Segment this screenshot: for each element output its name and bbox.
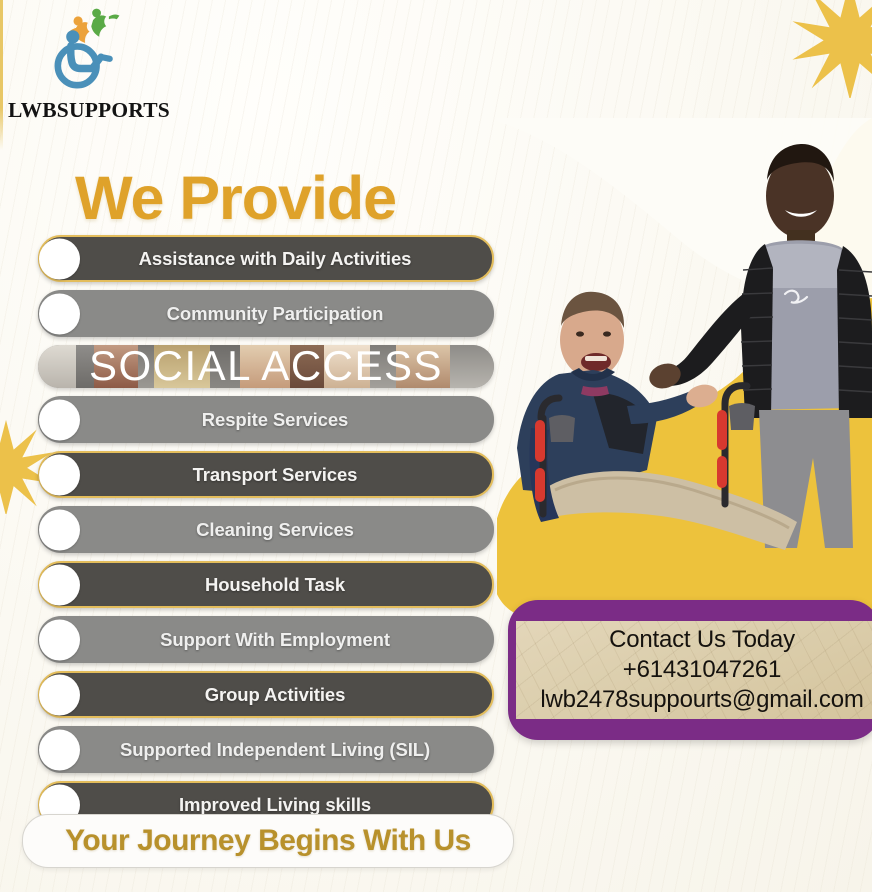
bullet-icon	[39, 619, 80, 660]
page-title: We Provide	[75, 163, 396, 233]
hero-photo	[497, 118, 872, 618]
contact-phone[interactable]: +61431047261	[623, 655, 781, 685]
service-pill-transport-services[interactable]: Transport Services	[38, 451, 494, 498]
social-access-photo-strip: SOCIAL ACCESS	[38, 345, 494, 388]
poster-canvas: LWBSUPPORTS We Provide	[0, 0, 872, 892]
footer-tagline: Your Journey Begins With Us	[65, 824, 471, 858]
service-label: Household Task	[40, 574, 492, 596]
contact-kraft-panel: Contact Us Today +61431047261 lwb2478sup…	[516, 621, 872, 719]
starburst-top-right-icon	[790, 0, 872, 98]
contact-heading: Contact Us Today	[609, 625, 795, 655]
bullet-icon	[39, 509, 80, 550]
service-pill-cleaning-services[interactable]: Cleaning Services	[38, 506, 494, 553]
service-pill-group-activities[interactable]: Group Activities	[38, 671, 494, 718]
service-pill-supported-independent-living[interactable]: Supported Independent Living (SIL)	[38, 726, 494, 773]
bullet-icon	[39, 238, 80, 279]
contact-email[interactable]: lwb2478suppourts@gmail.com	[540, 685, 863, 715]
bullet-icon	[39, 674, 80, 715]
service-pill-household-task[interactable]: Household Task	[38, 561, 494, 608]
brand-logo: LWBSUPPORTS	[8, 6, 160, 130]
contact-card[interactable]: Contact Us Today +61431047261 lwb2478sup…	[508, 600, 872, 740]
social-access-overlay-text: SOCIAL ACCESS	[38, 345, 494, 388]
service-label: Transport Services	[40, 464, 492, 486]
services-list: Assistance with Daily Activities Communi…	[38, 235, 494, 836]
wheelchair-accessibility-icon	[42, 6, 130, 94]
bullet-icon	[39, 564, 80, 605]
service-label: Group Activities	[40, 684, 492, 706]
people-illustration	[497, 118, 872, 618]
service-label: Cleaning Services	[40, 519, 492, 541]
bullet-icon	[39, 293, 80, 334]
service-label: Assistance with Daily Activities	[40, 248, 492, 270]
brand-name: LWBSUPPORTS	[8, 98, 160, 123]
service-label: Supported Independent Living (SIL)	[40, 739, 492, 761]
service-pill-community-participation[interactable]: Community Participation	[38, 290, 494, 337]
service-pill-support-with-employment[interactable]: Support With Employment	[38, 616, 494, 663]
service-pill-assistance-with-daily-activities[interactable]: Assistance with Daily Activities	[38, 235, 494, 282]
bullet-icon	[39, 454, 80, 495]
service-label: Respite Services	[40, 409, 492, 431]
service-pill-respite-services[interactable]: Respite Services	[38, 396, 494, 443]
service-label: Improved Living skills	[40, 794, 492, 816]
bullet-icon	[39, 729, 80, 770]
service-label: Support With Employment	[40, 629, 492, 651]
bullet-icon	[39, 399, 80, 440]
footer-tagline-banner: Your Journey Begins With Us	[22, 814, 514, 868]
gold-edge-line	[0, 0, 3, 150]
service-label: Community Participation	[40, 303, 492, 325]
